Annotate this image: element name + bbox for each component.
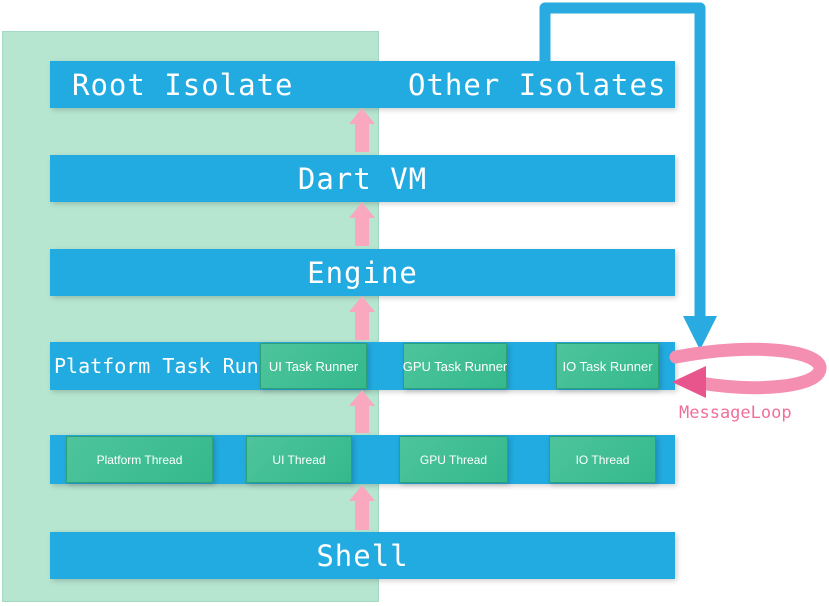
io-task-runner-label: IO Task Runner — [562, 359, 652, 374]
platform-thread-label: Platform Thread — [97, 453, 183, 467]
ui-task-runner-label: UI Task Runner — [269, 359, 358, 374]
platform-task-runner-label: Platform Task Runner — [54, 354, 295, 378]
dart-vm-label: Dart VM — [298, 162, 427, 196]
io-thread-box[interactable]: IO Thread — [549, 436, 656, 483]
io-task-runner-box[interactable]: IO Task Runner — [556, 343, 659, 389]
ui-thread-label: UI Thread — [272, 453, 325, 467]
diagram-canvas: Root Isolate Other Isolates Dart VM Engi… — [0, 0, 829, 606]
shell-label: Shell — [316, 539, 408, 573]
message-loop-arrow — [672, 349, 820, 398]
engine-label: Engine — [307, 256, 418, 290]
message-loop-label: MessageLoop — [679, 403, 792, 423]
shell-bar[interactable]: Shell — [50, 532, 675, 579]
root-isolate-label: Root Isolate — [72, 68, 294, 102]
other-isolates-label: Other Isolates — [408, 68, 666, 102]
io-thread-label: IO Thread — [576, 453, 630, 467]
ui-thread-box[interactable]: UI Thread — [246, 436, 352, 483]
gpu-task-runner-box[interactable]: GPU Task Runner — [403, 343, 507, 389]
gpu-thread-label: GPU Thread — [420, 453, 487, 467]
root-isolate-region — [2, 31, 379, 602]
dart-vm-bar[interactable]: Dart VM — [50, 155, 675, 202]
ui-task-runner-box[interactable]: UI Task Runner — [260, 343, 367, 389]
gpu-thread-box[interactable]: GPU Thread — [399, 436, 508, 483]
platform-thread-box[interactable]: Platform Thread — [66, 436, 213, 483]
isolates-bar[interactable]: Root Isolate Other Isolates — [50, 61, 675, 108]
gpu-task-runner-label: GPU Task Runner — [403, 359, 508, 374]
engine-bar[interactable]: Engine — [50, 249, 675, 296]
